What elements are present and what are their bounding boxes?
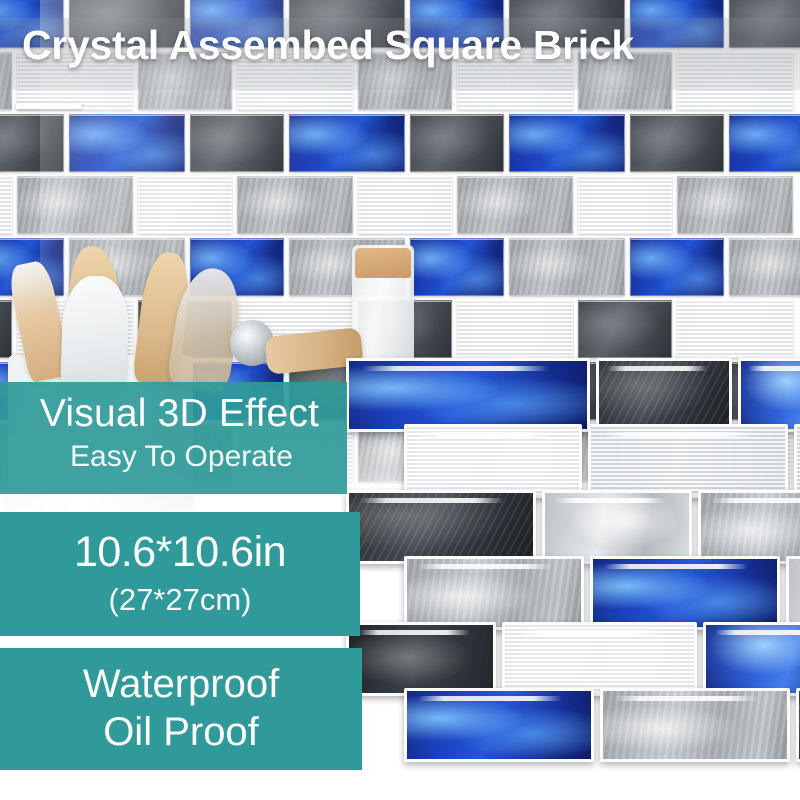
tile-sample — [596, 358, 732, 432]
backsplash-tile — [578, 176, 672, 234]
tile-sample — [588, 424, 788, 498]
product-marketing-image: Crystal Assembed Square Brick Visual 3D … — [0, 0, 800, 800]
tile-sample — [703, 622, 800, 696]
tile-sample-row — [346, 358, 800, 432]
backsplash-tile — [677, 300, 793, 358]
feature-banner-visual-3d-effect: Visual 3D Effect Easy To Operate — [0, 382, 347, 494]
backsplash-tile — [729, 238, 800, 296]
backsplash-tile — [509, 238, 625, 296]
tile-sample — [346, 490, 536, 564]
tile-sample — [698, 490, 800, 564]
tile-sample — [404, 556, 584, 630]
feature-line-secondary: Oil Proof — [0, 710, 362, 755]
tile-sample — [738, 358, 800, 432]
backsplash-tile — [509, 114, 625, 172]
feature-line-primary: 10.6*10.6in — [0, 528, 360, 577]
feature-line-primary: Waterproof — [0, 662, 362, 707]
tile-sample-row — [346, 490, 800, 564]
tile-sample — [346, 622, 496, 696]
tile-sample — [796, 688, 800, 762]
tile-sample — [346, 358, 590, 432]
tile-sample-row — [346, 622, 800, 696]
backsplash-tile — [578, 300, 672, 358]
tile-sample — [600, 688, 790, 762]
tile-sample — [404, 424, 582, 498]
cork-stopper — [355, 248, 411, 278]
feature-banner-waterproof: Waterproof Oil Proof — [0, 648, 362, 770]
backsplash-tile — [457, 300, 573, 358]
backsplash-tile — [457, 176, 573, 234]
tile-sample — [794, 424, 800, 498]
tile-sample-row — [404, 688, 800, 762]
tile-sample — [590, 556, 780, 630]
tile-sample — [542, 490, 692, 564]
backsplash-tile — [630, 238, 724, 296]
tile-sample-row — [404, 424, 800, 498]
backsplash-tile — [0, 300, 12, 358]
tile-sample — [404, 688, 594, 762]
tile-sample — [786, 556, 800, 630]
tile-sample-panel — [346, 358, 800, 788]
title-underline — [16, 103, 82, 109]
feature-line-primary: Visual 3D Effect — [0, 392, 353, 436]
tile-sample — [502, 622, 697, 696]
backsplash-tile — [729, 114, 800, 172]
feature-line-secondary: Easy To Operate — [0, 440, 355, 474]
feature-banner-size: 10.6*10.6in (27*27cm) — [0, 512, 360, 636]
backsplash-tile — [630, 114, 724, 172]
tile-sample-row — [404, 556, 800, 630]
backsplash-tile — [677, 176, 793, 234]
scissors — [60, 275, 130, 395]
page-title: Crystal Assembed Square Brick — [22, 22, 792, 69]
feature-line-secondary: (27*27cm) — [0, 582, 360, 618]
backsplash-tile — [0, 176, 12, 234]
